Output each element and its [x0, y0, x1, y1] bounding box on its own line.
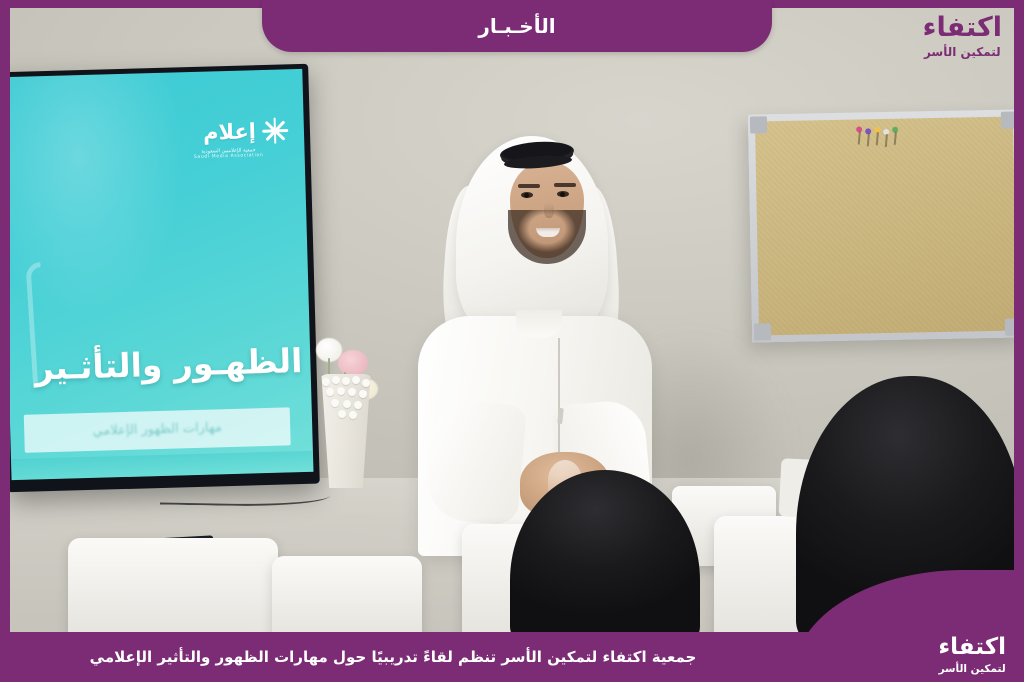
frame-left-border: [0, 0, 10, 682]
sleeve-left: [425, 398, 527, 526]
brand-tagline: لتمكين الأسر: [923, 46, 1002, 58]
news-header-banner: الأخـبـار: [262, 0, 772, 52]
slide-org-name: إعلام: [203, 119, 257, 144]
thobe-placket: [558, 338, 560, 456]
frame-right-border: [1014, 0, 1024, 682]
board-cork-surface: [755, 117, 1017, 336]
slide-org-logo: إعلام جمعية الإعلاميين السعودية Saudi Me…: [168, 117, 289, 160]
slide-subtitle-band: مهارات الظهور الإعلامي: [24, 407, 291, 452]
slide-subtitle: مهارات الظهور الإعلامي: [24, 407, 291, 452]
news-photo: إعلام جمعية الإعلاميين السعودية Saudi Me…: [10, 8, 1024, 632]
brand-name: اكتفاء: [923, 14, 1002, 41]
presentation-screen: إعلام جمعية الإعلاميين السعودية Saudi Me…: [10, 64, 320, 493]
cork-board: [748, 109, 1024, 342]
brand-tagline: لتمكين الأسر: [938, 664, 1006, 675]
brand-logo-bottom[interactable]: اكتفاء لتمكين الأسر: [938, 636, 1006, 675]
eyebrow: [518, 184, 540, 188]
board-corner: [750, 116, 767, 133]
brand-logo-top[interactable]: اكتفاء لتمكين الأسر: [923, 14, 1002, 58]
vase-texture: [318, 374, 374, 420]
brand-name: اكتفاء: [938, 636, 1006, 659]
star-icon: [262, 117, 289, 144]
slide-title: الظهـور والتأثـير: [12, 341, 303, 388]
push-pins: [856, 125, 926, 148]
tv-screen: إعلام جمعية الإعلاميين السعودية Saudi Me…: [10, 69, 313, 480]
eye: [521, 192, 533, 198]
flower-pink: [338, 350, 368, 376]
header-title: الأخـبـار: [478, 14, 555, 38]
collar: [516, 310, 562, 338]
flower-vase: [310, 338, 382, 488]
chair-front-left: [68, 538, 278, 632]
news-card: إعلام جمعية الإعلاميين السعودية Saudi Me…: [0, 0, 1024, 682]
caption-text: جمعية اكتفاء لتمكين الأسر تنظم لقاءً تدر…: [0, 632, 786, 682]
board-corner: [754, 323, 771, 340]
chair-front-left-2: [272, 556, 422, 632]
eyebrow: [554, 183, 576, 187]
eye: [557, 191, 569, 197]
